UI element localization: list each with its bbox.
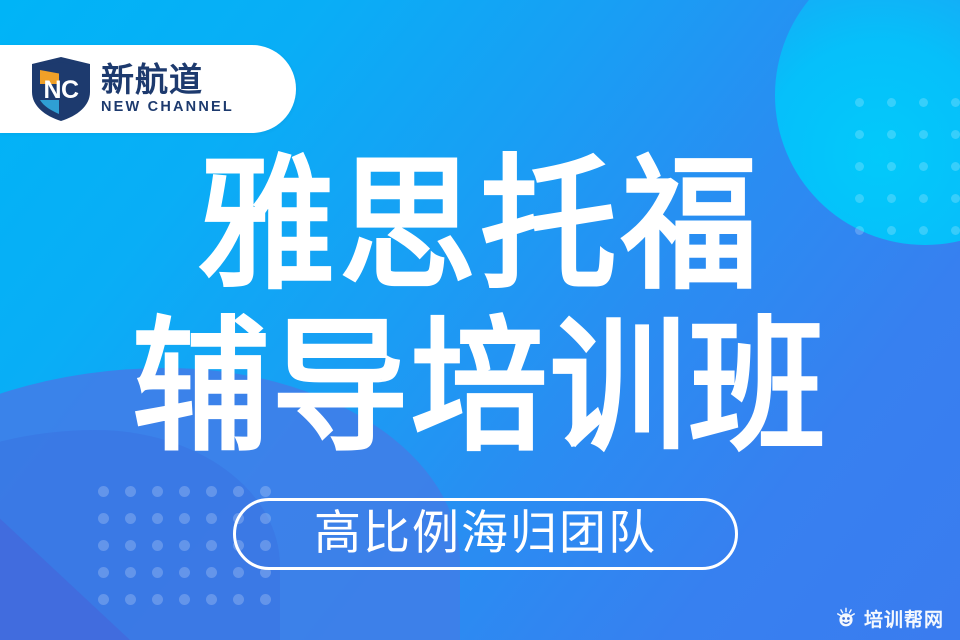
grid-dot bbox=[887, 130, 896, 139]
grid-dot bbox=[233, 486, 244, 497]
grid-dot bbox=[233, 594, 244, 605]
grid-dot bbox=[125, 540, 136, 551]
smiling-face-icon bbox=[835, 607, 857, 629]
brand-name-cn: 新航道 bbox=[101, 63, 234, 97]
grid-dot bbox=[179, 567, 190, 578]
grid-dot bbox=[206, 486, 217, 497]
grid-dot bbox=[152, 594, 163, 605]
headline-block: 雅思托福 辅导培训班 bbox=[0, 146, 960, 460]
site-watermark: 培训帮网 bbox=[829, 604, 950, 632]
grid-dot bbox=[260, 486, 271, 497]
grid-dot bbox=[152, 567, 163, 578]
grid-dot bbox=[98, 486, 109, 497]
grid-dot bbox=[179, 486, 190, 497]
brand-logo-bar: NC 新航道 NEW CHANNEL bbox=[0, 45, 296, 133]
grid-dot bbox=[98, 567, 109, 578]
grid-dot bbox=[179, 594, 190, 605]
headline-line-2: 辅导培训班 bbox=[0, 308, 960, 469]
grid-dot bbox=[919, 98, 928, 107]
brand-logo-text: 新航道 NEW CHANNEL bbox=[101, 63, 234, 116]
grid-dot bbox=[125, 567, 136, 578]
grid-dot bbox=[951, 98, 960, 107]
svg-text:NC: NC bbox=[43, 76, 79, 104]
headline-line-1: 雅思托福 bbox=[0, 146, 960, 307]
grid-dot bbox=[152, 540, 163, 551]
subtitle-text: 高比例海归团队 bbox=[314, 508, 657, 560]
grid-dot bbox=[919, 130, 928, 139]
grid-dot bbox=[179, 540, 190, 551]
grid-dot bbox=[98, 513, 109, 524]
grid-dot bbox=[179, 513, 190, 524]
grid-dot bbox=[951, 130, 960, 139]
grid-dot bbox=[98, 540, 109, 551]
grid-dot bbox=[206, 594, 217, 605]
promo-banner: NC 新航道 NEW CHANNEL 雅思托福 辅导培训班 高比例海归团队 bbox=[0, 0, 960, 640]
grid-dot bbox=[206, 540, 217, 551]
grid-dot bbox=[125, 486, 136, 497]
grid-dot bbox=[260, 594, 271, 605]
subtitle-pill: 高比例海归团队 bbox=[233, 498, 738, 570]
grid-dot bbox=[855, 98, 864, 107]
grid-dot bbox=[98, 594, 109, 605]
grid-dot bbox=[125, 594, 136, 605]
grid-dot bbox=[887, 98, 896, 107]
watermark-text: 培训帮网 bbox=[864, 605, 944, 632]
grid-dot bbox=[855, 130, 864, 139]
grid-dot bbox=[152, 513, 163, 524]
grid-dot bbox=[206, 567, 217, 578]
grid-dot bbox=[152, 486, 163, 497]
nc-shield-icon: NC bbox=[30, 56, 92, 122]
grid-dot bbox=[125, 513, 136, 524]
grid-dot bbox=[206, 513, 217, 524]
brand-name-en: NEW CHANNEL bbox=[101, 99, 234, 115]
grid-dot bbox=[233, 567, 244, 578]
